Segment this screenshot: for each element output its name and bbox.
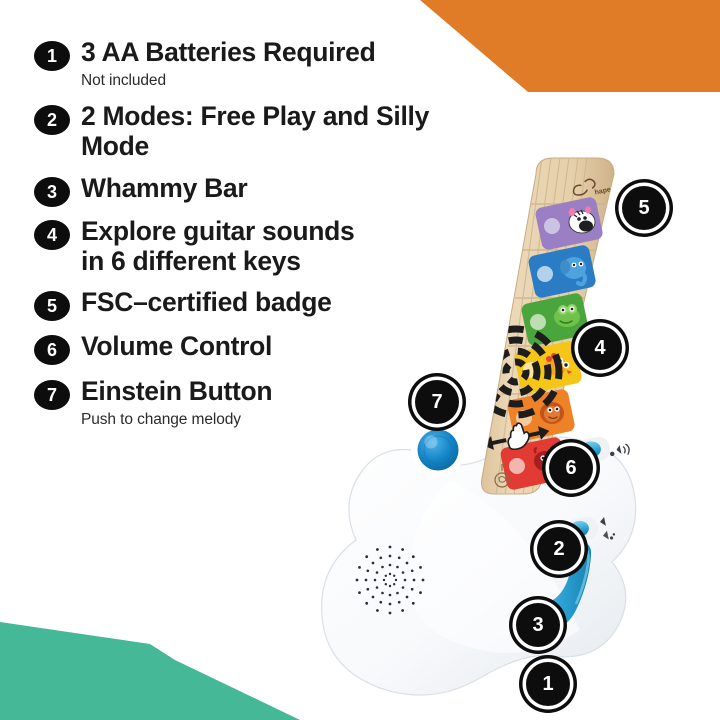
key-1-dot bbox=[544, 218, 560, 234]
feature-title-1: 3 AA Batteries Required bbox=[81, 38, 464, 68]
feature-badge-4: 4 bbox=[34, 220, 70, 250]
key-6-dot bbox=[509, 458, 525, 474]
orange-triangle-shape bbox=[420, 0, 720, 92]
guitar-illustration: hape bbox=[300, 150, 720, 710]
product-photo-guitar: hape bbox=[300, 150, 720, 710]
einstein-button[interactable] bbox=[411, 423, 465, 477]
orange-triangle-decoration bbox=[420, 0, 720, 92]
callout-4-color-keys[interactable]: 4 bbox=[578, 326, 622, 370]
feature-badge-3: 3 bbox=[34, 177, 70, 207]
callout-1-battery-compartment[interactable]: 1 bbox=[526, 662, 570, 706]
feature-text-1: 3 AA Batteries Required Not included bbox=[81, 38, 464, 90]
lion-icon bbox=[540, 402, 564, 424]
feature-item-1: 1 3 AA Batteries Required Not included bbox=[34, 38, 464, 90]
green-polygon-decoration bbox=[0, 608, 330, 720]
callout-3-whammy-bar[interactable]: 3 bbox=[516, 603, 560, 647]
callout-7-einstein-button[interactable]: 7 bbox=[415, 380, 459, 424]
callout-2-mode-switch[interactable]: 2 bbox=[537, 527, 581, 571]
feature-badge-5: 5 bbox=[34, 291, 70, 321]
key-2-dot bbox=[537, 266, 553, 282]
infographic-canvas: 1 3 AA Batteries Required Not included 2… bbox=[0, 0, 720, 720]
feature-badge-6: 6 bbox=[34, 335, 70, 365]
feature-badge-7: 7 bbox=[34, 380, 70, 410]
callout-6-volume-control[interactable]: 6 bbox=[549, 446, 593, 490]
green-polygon-shape bbox=[0, 622, 300, 720]
einstein-button-gloss bbox=[425, 436, 438, 449]
feature-badge-2: 2 bbox=[34, 105, 70, 135]
feature-badge-1: 1 bbox=[34, 41, 70, 71]
callout-5-fsc-badge[interactable]: 5 bbox=[622, 186, 666, 230]
key-3-dot bbox=[530, 314, 546, 330]
volume-icons bbox=[609, 443, 631, 458]
feature-subtitle-1: Not included bbox=[81, 71, 464, 90]
